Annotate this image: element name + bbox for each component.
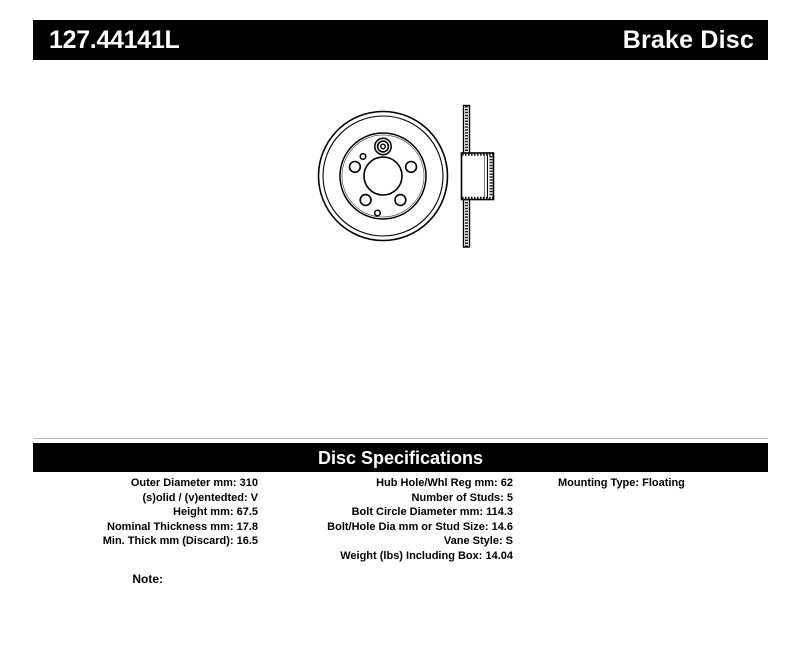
product-type-label: Brake Disc — [623, 28, 754, 53]
spec-row: Hub Hole/Whl Reg mm: 62 — [258, 476, 513, 491]
spec-column-middle: Hub Hole/Whl Reg mm: 62 Number of Studs:… — [258, 476, 513, 564]
spec-row: Vane Style: S — [258, 534, 513, 549]
section-divider — [33, 438, 768, 439]
spec-row: Min. Thick mm (Discard): 16.5 — [33, 534, 258, 549]
spec-column-left: Outer Diameter mm: 310 (s)olid / (v)ente… — [33, 476, 258, 549]
spec-row: Number of Studs: 5 — [258, 491, 513, 506]
spec-section-title: Disc Specifications — [318, 449, 483, 467]
spec-column-right: Mounting Type: Floating — [513, 476, 768, 491]
technical-drawing — [0, 70, 800, 420]
spec-table: Outer Diameter mm: 310 (s)olid / (v)ente… — [33, 476, 768, 564]
note-label: Note: — [33, 572, 163, 586]
spec-row: Bolt Circle Diameter mm: 114.3 — [258, 505, 513, 520]
note-row: Note: — [33, 572, 768, 586]
spec-row: Outer Diameter mm: 310 — [33, 476, 258, 491]
spec-row: Nominal Thickness mm: 17.8 — [33, 520, 258, 535]
spec-row: Height mm: 67.5 — [33, 505, 258, 520]
spec-row: (s)olid / (v)entedted: V — [33, 491, 258, 506]
header-bar: 127.44141L Brake Disc — [33, 20, 768, 60]
rotor-face-view — [319, 112, 448, 241]
spec-row: Mounting Type: Floating — [558, 476, 768, 491]
spec-row: Bolt/Hole Dia mm or Stud Size: 14.6 — [258, 520, 513, 535]
spec-row: Weight (lbs) Including Box: 14.04 — [258, 549, 513, 564]
rotor-cross-section-view — [462, 106, 494, 248]
spec-section-header: Disc Specifications — [33, 443, 768, 472]
part-number-label: 127.44141L — [49, 28, 179, 53]
